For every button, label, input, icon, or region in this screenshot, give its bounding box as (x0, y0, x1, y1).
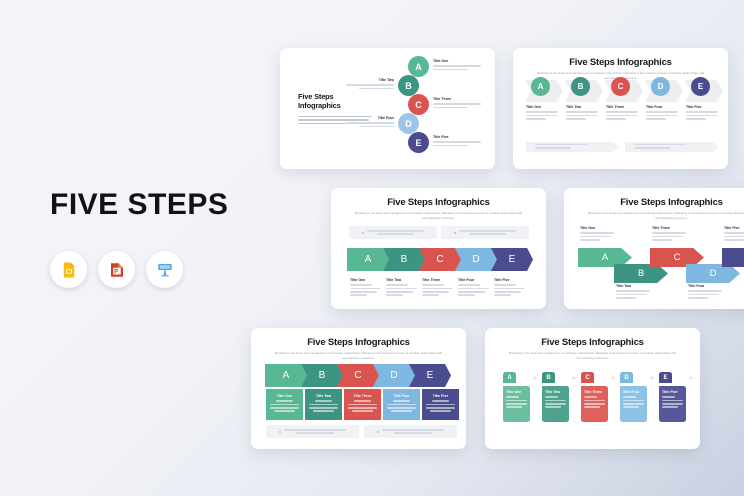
footer-bar-2[interactable] (625, 142, 718, 152)
step-text-b: Title Two (346, 78, 394, 91)
step-chevron-a[interactable]: A (265, 364, 307, 387)
slide-subtitle: Marketing is the study and management of… (507, 351, 679, 360)
step-letter-b: B (542, 372, 555, 383)
step-circle-c[interactable]: C (611, 77, 630, 96)
slide-card-vertical-circles[interactable]: Five Steps Infographics A B C D E Title … (280, 48, 495, 169)
step-chevron-e[interactable]: E (491, 248, 533, 271)
step-circle-b[interactable]: B (398, 75, 419, 96)
slide-title: Five Steps Infographics (251, 337, 466, 348)
google-slides-icon[interactable] (50, 251, 87, 288)
step-box-a[interactable]: Title One (266, 389, 303, 420)
card1-heading-line2: Infographics (298, 101, 341, 110)
step-arrow-e[interactable]: E (722, 248, 744, 267)
step-title-a: Title One (350, 278, 381, 282)
slide-title: Five Steps Infographics (564, 197, 744, 208)
step-letter-e: E (659, 372, 672, 383)
step-chevron-c[interactable]: C (419, 248, 461, 271)
step-text-e: Title Five (494, 278, 525, 298)
slide-card-tabbed-cards[interactable]: Five Steps Infographics Marketing is the… (485, 328, 700, 449)
step-title-d: Title Four (688, 284, 722, 288)
step-title-e: Title Five (724, 226, 744, 230)
step-text-c: Title Three (652, 226, 686, 242)
step-card-a[interactable]: A Title One (503, 372, 530, 422)
step-text-e: Title Five (686, 105, 718, 121)
step-text-c: Title Three (433, 97, 481, 110)
step-card-c[interactable]: C Title Three (581, 372, 608, 422)
step-card-e[interactable]: E Title Five (659, 372, 686, 422)
step-box-b[interactable]: Title Two (305, 389, 342, 420)
step-circle-d[interactable]: D (398, 113, 419, 134)
step-text-b: Title Two (566, 105, 598, 121)
step-title-d: Title Four (623, 390, 644, 394)
step-title-a: Title One (580, 226, 614, 230)
hero-section: FIVE STEPS P (50, 190, 280, 288)
slide-title: Five Steps Infographics (331, 197, 546, 208)
step-card-d[interactable]: D Title Four (620, 372, 647, 422)
step-title-e: Title Five (433, 135, 481, 139)
footer-bar-1[interactable] (266, 425, 359, 438)
slide-card-horizontal-circles[interactable]: Five Steps Infographics Marketing is the… (513, 48, 728, 169)
step-title-a: Title One (506, 390, 527, 394)
step-title-a: Title One (433, 59, 481, 63)
step-title-b: Title Two (545, 390, 566, 394)
step-box-e[interactable]: Title Five (422, 389, 459, 420)
step-title-e: Title Five (426, 394, 455, 398)
step-title-c: Title Three (606, 105, 638, 109)
app-format-icons: P (50, 251, 280, 288)
step-title-c: Title Three (422, 278, 453, 282)
step-text-a: Title One (580, 226, 614, 242)
page-title: FIVE STEPS (50, 190, 280, 220)
footer-bar-2[interactable] (364, 425, 457, 438)
step-text-c: Title Three (606, 105, 638, 121)
step-title-b: Title Two (566, 105, 598, 109)
step-text-d: Title Four (346, 116, 394, 129)
step-circle-a[interactable]: A (408, 56, 429, 77)
step-text-a: Title One (433, 59, 481, 72)
step-text-d: Title Four (646, 105, 678, 121)
step-title-e: Title Five (662, 390, 683, 394)
step-text-b: Title Two (616, 284, 650, 300)
step-letter-d: D (620, 372, 633, 383)
step-title-d: Title Four (387, 394, 416, 398)
step-chevron-d[interactable]: D (455, 248, 497, 271)
step-circle-b[interactable]: B (571, 77, 590, 96)
chevron-right-icon: ➤ (571, 374, 577, 382)
step-title-b: Title Two (616, 284, 650, 288)
slide-title: Five Steps Infographics (513, 57, 728, 68)
card1-heading-line1: Five Steps (298, 92, 334, 101)
step-circle-e[interactable]: E (691, 77, 710, 96)
slide-subtitle: Marketing is the study and management of… (273, 351, 445, 360)
slide-card-chevron-strip[interactable]: Five Steps Infographics Marketing is the… (331, 188, 546, 309)
step-chevron-b[interactable]: B (383, 248, 425, 271)
step-text-c: Title Three (422, 278, 453, 298)
step-text-d: Title Four (688, 284, 722, 300)
svg-text:P: P (114, 269, 118, 275)
slide-title: Five Steps Infographics (485, 337, 700, 348)
step-title-d: Title Four (458, 278, 489, 282)
footer-bar-1[interactable] (526, 142, 619, 152)
slide-subtitle: Marketing is the study and management of… (353, 211, 525, 220)
step-title-c: Title Three (348, 394, 377, 398)
step-text-a: Title One (526, 105, 558, 121)
slide-card-staircase-arrows[interactable]: Five Steps Infographics Marketing is the… (564, 188, 744, 309)
chevron-right-icon: ➤ (610, 374, 616, 382)
step-title-b: Title Two (309, 394, 338, 398)
keynote-icon[interactable] (146, 251, 183, 288)
top-bar-1[interactable] (349, 226, 437, 239)
step-chevron-e[interactable]: E (409, 364, 451, 387)
step-title-c: Title Three (584, 390, 605, 394)
step-letter-a: A (503, 372, 516, 383)
chevron-right-icon: ➤ (532, 374, 538, 382)
step-text-d: Title Four (458, 278, 489, 298)
step-chevron-d[interactable]: D (373, 364, 415, 387)
chevron-right-icon: ➤ (688, 374, 694, 382)
step-text-b: Title Two (386, 278, 417, 298)
powerpoint-icon[interactable]: P (98, 251, 135, 288)
step-title-d: Title Four (646, 105, 678, 109)
top-bar-2[interactable] (441, 226, 529, 239)
step-title-a: Title One (526, 105, 558, 109)
step-title-a: Title One (270, 394, 299, 398)
step-circle-e[interactable]: E (408, 132, 429, 153)
step-title-b: Title Two (386, 278, 417, 282)
step-box-c[interactable]: Title Three (344, 389, 381, 420)
step-title-e: Title Five (686, 105, 718, 109)
step-card-b[interactable]: B Title Two (542, 372, 569, 422)
step-circle-a[interactable]: A (531, 77, 550, 96)
chevron-right-icon: ➤ (649, 374, 655, 382)
slide-card-chevron-boxes[interactable]: Five Steps Infographics Marketing is the… (251, 328, 466, 449)
step-letter-c: C (581, 372, 594, 383)
step-text-e: Title Five (724, 226, 744, 242)
step-title-b: Title Two (346, 78, 394, 82)
step-chevron-a[interactable]: A (347, 248, 389, 271)
step-chevron-b[interactable]: B (301, 364, 343, 387)
step-circle-c[interactable]: C (408, 94, 429, 115)
step-text-e: Title Five (433, 135, 481, 148)
slide-subtitle: Marketing is the study and management of… (586, 211, 744, 220)
step-title-c: Title Three (433, 97, 481, 101)
step-title-e: Title Five (494, 278, 525, 282)
step-circle-d[interactable]: D (651, 77, 670, 96)
step-text-a: Title One (350, 278, 381, 298)
step-title-c: Title Three (652, 226, 686, 230)
step-chevron-c[interactable]: C (337, 364, 379, 387)
step-box-d[interactable]: Title Four (383, 389, 420, 420)
step-title-d: Title Four (346, 116, 394, 120)
